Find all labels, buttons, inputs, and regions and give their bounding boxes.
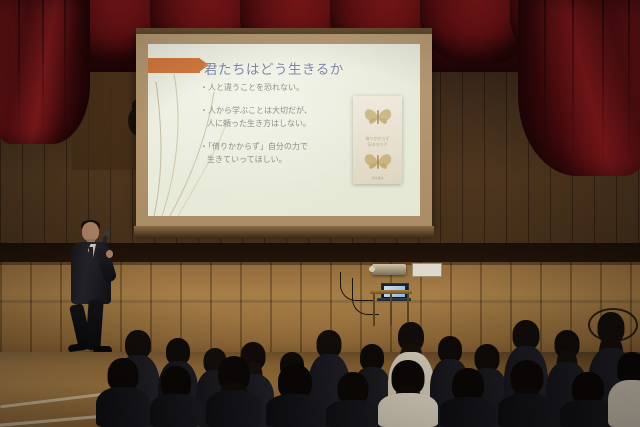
presenter-figure xyxy=(62,222,120,362)
projector-device xyxy=(372,264,406,275)
bullet-line-2: 人に頼った生き方はしない。 xyxy=(200,118,350,130)
slide-bullet: ・人から学ぶことは大切だが、 人に頼った生き方はしない。 xyxy=(200,105,350,130)
list-item xyxy=(498,360,556,427)
presenter-tie xyxy=(89,247,93,260)
assembly-photo: 君たちはどう生きるか ・人と違うことを恐れない。 ・人から学ぶことは大切だが、 … xyxy=(0,0,640,427)
presenter-legs xyxy=(73,300,111,352)
list-item xyxy=(266,364,324,427)
butterfly-icon xyxy=(363,106,393,128)
list-item xyxy=(206,356,262,427)
book-title-text: 倚りかからず xyxy=(366,136,390,141)
list-item xyxy=(440,368,496,427)
list-item xyxy=(150,366,202,427)
slide-title: 君たちはどう生きるか xyxy=(204,58,344,78)
cable-bundle xyxy=(588,308,638,342)
orange-banner-arrow-icon xyxy=(148,58,200,73)
wall-sign xyxy=(412,263,442,277)
list-item xyxy=(96,358,150,427)
list-item xyxy=(608,352,640,427)
bullet-line-2: 生きていってほしい。 xyxy=(200,154,350,166)
bullet-line-1: ・人から学ぶことは大切だが、 xyxy=(200,106,312,115)
slide-bullet: ・人と違うことを恐れない。 xyxy=(200,82,350,94)
curtain-right xyxy=(518,0,640,176)
book-publisher-text: 筑摩書房 xyxy=(353,176,402,180)
projected-slide: 君たちはどう生きるか ・人と違うことを恐れない。 ・人から学ぶことは大切だが、 … xyxy=(148,44,420,216)
butterfly-icon xyxy=(363,151,393,173)
list-item xyxy=(326,372,380,427)
presenter-hand xyxy=(106,250,113,258)
list-item xyxy=(378,360,438,427)
bullet-line-1: ・「倚りかからず」自分の力で xyxy=(200,142,308,151)
book-cover-title: 倚りかからず 茨木のり子 xyxy=(353,136,402,148)
book-author-text: 茨木のり子 xyxy=(368,142,388,147)
laptop-stand xyxy=(370,290,412,326)
curtain-left xyxy=(0,0,90,144)
screen-bottom-bar xyxy=(134,226,434,238)
slide-bullet-list: ・人と違うことを恐れない。 ・人から学ぶことは大切だが、 人に頼った生き方はしな… xyxy=(200,82,350,177)
bullet-line-1: ・人と違うことを恐れない。 xyxy=(200,83,304,92)
book-cover-image: 倚りかからず 茨木のり子 筑摩書房 xyxy=(353,96,402,184)
slide-bullet: ・「倚りかからず」自分の力で 生きていってほしい。 xyxy=(200,141,350,166)
